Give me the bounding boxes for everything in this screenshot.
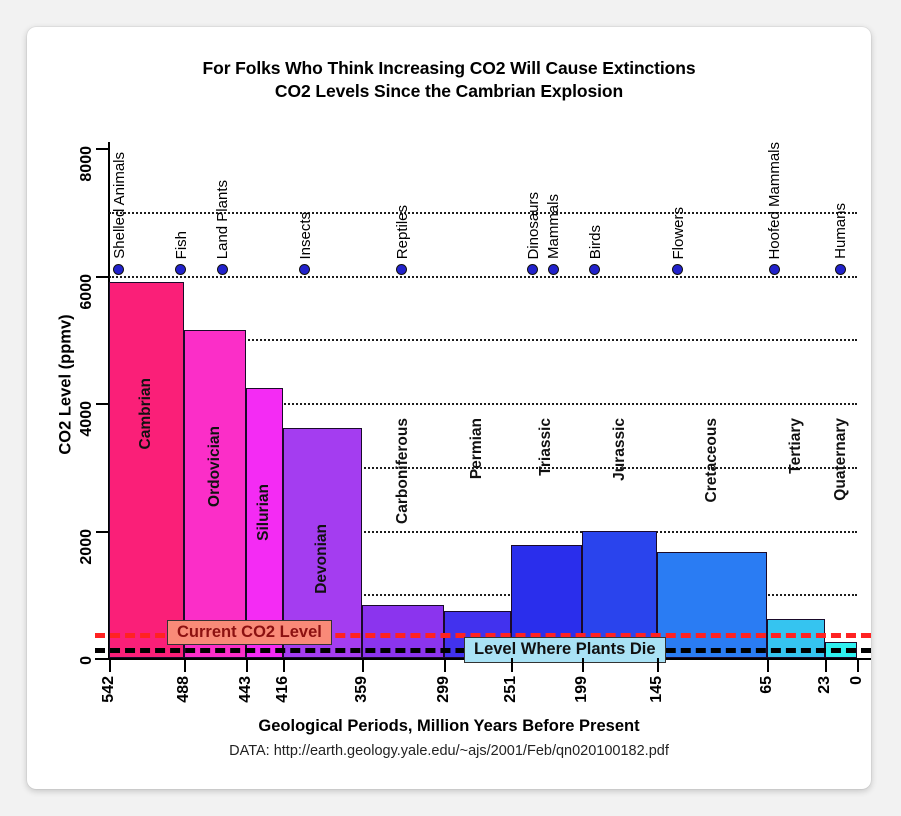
x-tick-mark bbox=[246, 658, 248, 672]
chart-card: For Folks Who Think Increasing CO2 Will … bbox=[27, 27, 871, 789]
event-label: Birds bbox=[587, 225, 604, 259]
x-tick-label: 145 bbox=[648, 676, 666, 703]
y-tick-label: 6000 bbox=[78, 274, 96, 334]
x-tick-label: 199 bbox=[573, 676, 591, 703]
bar-label-permian: Permian bbox=[468, 418, 486, 479]
callout-plants-die: Level Where Plants Die bbox=[464, 637, 666, 663]
x-tick-mark bbox=[657, 658, 659, 672]
x-tick-label: 443 bbox=[237, 676, 255, 703]
x-tick-label: 488 bbox=[175, 676, 193, 703]
bar-label-cretaceous: Cretaceous bbox=[703, 418, 721, 502]
y-tick-label: 4000 bbox=[78, 401, 96, 461]
event-dot bbox=[769, 264, 780, 275]
event-dot bbox=[527, 264, 538, 275]
x-tick-mark bbox=[362, 658, 364, 672]
x-tick-mark bbox=[283, 658, 285, 672]
event-dot bbox=[217, 264, 228, 275]
event-dot bbox=[113, 264, 124, 275]
y-tick-mark bbox=[96, 403, 109, 405]
y-tick-mark bbox=[96, 531, 109, 533]
x-tick-mark bbox=[825, 658, 827, 672]
x-tick-label: 0 bbox=[848, 676, 866, 685]
data-source-caption: DATA: http://earth.geology.yale.edu/~ajs… bbox=[27, 743, 871, 759]
x-tick-label: 65 bbox=[758, 676, 776, 694]
x-tick-mark bbox=[184, 658, 186, 672]
event-dot bbox=[548, 264, 559, 275]
event-label: Humans bbox=[832, 203, 849, 259]
event-label: Hoofed Mammals bbox=[766, 142, 783, 260]
bar-label-tertiary: Tertiary bbox=[787, 418, 805, 474]
bar-label-cambrian: Cambrian bbox=[137, 378, 155, 450]
x-tick-label: 23 bbox=[816, 676, 834, 694]
x-tick-label: 299 bbox=[435, 676, 453, 703]
y-tick-mark bbox=[96, 658, 109, 660]
y-tick-mark bbox=[96, 148, 109, 150]
event-label: Flowers bbox=[670, 207, 687, 260]
y-tick-label: 2000 bbox=[78, 529, 96, 589]
x-tick-mark bbox=[444, 658, 446, 672]
y-tick-label: 0 bbox=[78, 656, 96, 716]
event-label: Insects bbox=[297, 212, 314, 260]
event-label: Shelled Animals bbox=[111, 152, 128, 259]
x-tick-mark bbox=[582, 658, 584, 672]
event-dot bbox=[175, 264, 186, 275]
callout-current-co2: Current CO2 Level bbox=[167, 620, 332, 646]
y-axis-label: CO2 Level (ppmv) bbox=[57, 270, 76, 500]
event-dot bbox=[835, 264, 846, 275]
bar-label-quaternary: Quaternary bbox=[832, 418, 850, 501]
x-tick-label: 416 bbox=[274, 676, 292, 703]
event-label: Reptiles bbox=[394, 205, 411, 259]
x-tick-label: 542 bbox=[100, 676, 118, 703]
event-label: Mammals bbox=[545, 194, 562, 259]
event-label: Dinosaurs bbox=[525, 192, 542, 260]
bar-label-devonian: Devonian bbox=[313, 524, 331, 594]
event-label: Fish bbox=[173, 231, 190, 259]
bar-label-jurassic: Jurassic bbox=[611, 418, 629, 481]
x-tick-mark bbox=[857, 658, 859, 672]
event-dot bbox=[299, 264, 310, 275]
event-dot bbox=[589, 264, 600, 275]
bar-cambrian bbox=[109, 282, 184, 658]
x-tick-label: 251 bbox=[502, 676, 520, 703]
x-tick-label: 359 bbox=[353, 676, 371, 703]
x-tick-mark bbox=[767, 658, 769, 672]
bar-cretaceous bbox=[657, 552, 767, 658]
chart-title: For Folks Who Think Increasing CO2 Will … bbox=[27, 58, 871, 79]
bar-label-triassic: Triassic bbox=[537, 418, 555, 476]
x-tick-mark bbox=[511, 658, 513, 672]
chart-subtitle: CO2 Levels Since the Cambrian Explosion bbox=[27, 81, 871, 102]
x-tick-mark bbox=[109, 658, 111, 672]
y-tick-label: 8000 bbox=[78, 146, 96, 206]
event-dot bbox=[396, 264, 407, 275]
bar-label-silurian: Silurian bbox=[255, 484, 273, 541]
bar-label-ordovician: Ordovician bbox=[206, 426, 224, 507]
plot-area: CambrianOrdovicianSilurianDevonianCarbon… bbox=[109, 148, 857, 658]
event-dot bbox=[672, 264, 683, 275]
bar-label-carboniferous: Carboniferous bbox=[394, 418, 412, 524]
x-axis-label: Geological Periods, Million Years Before… bbox=[27, 717, 871, 736]
y-tick-mark bbox=[96, 276, 109, 278]
gridline bbox=[109, 276, 857, 278]
co2-history-chart: For Folks Who Think Increasing CO2 Will … bbox=[27, 27, 871, 789]
event-label: Land Plants bbox=[214, 180, 231, 259]
